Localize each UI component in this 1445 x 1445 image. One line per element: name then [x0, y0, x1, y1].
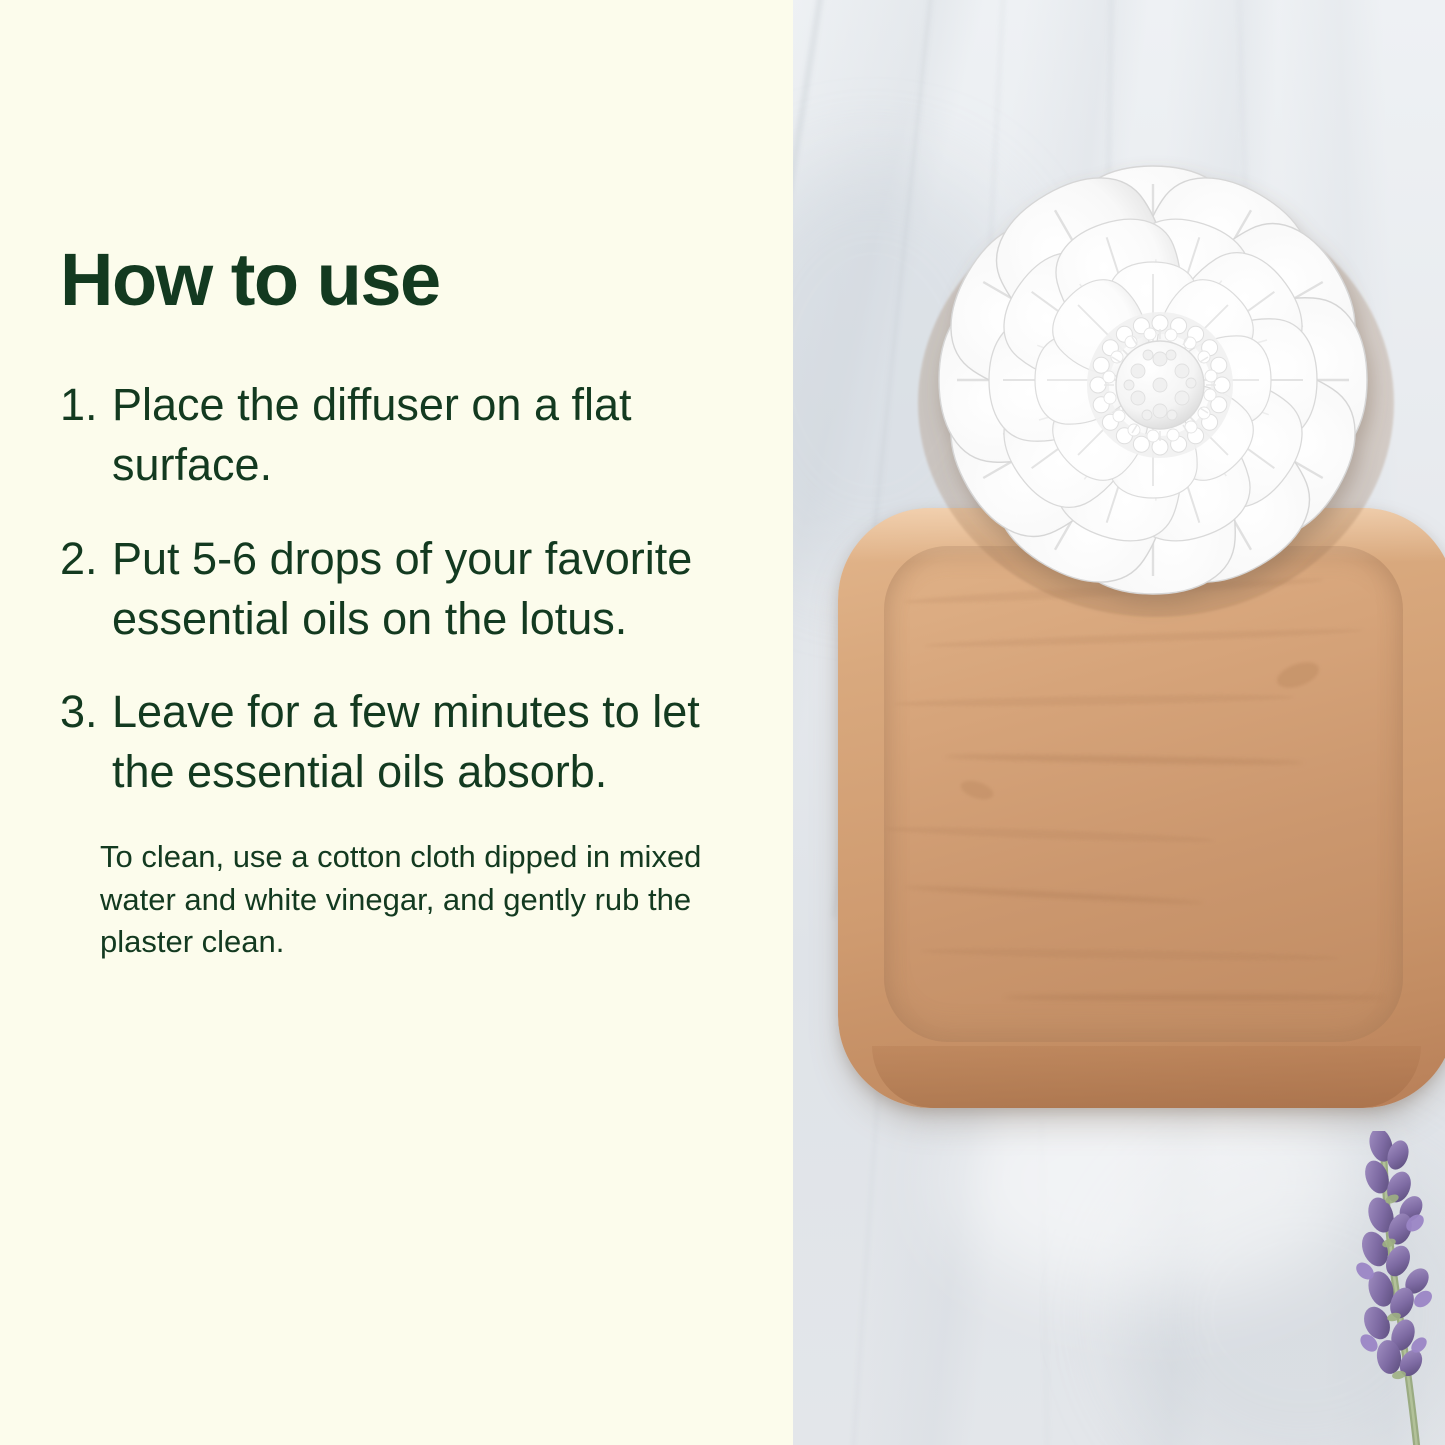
wood-knot-1 [1274, 657, 1323, 693]
instructions-panel: How to use 1. Place the diffuser on a fl… [0, 0, 793, 1445]
step-item-1: 1. Place the diffuser on a flat surface. [60, 375, 760, 495]
wood-grain-8 [1004, 994, 1384, 1001]
marble-vein-6 [849, 1080, 881, 1445]
bowl-base-shadow [872, 1046, 1421, 1108]
marble-vein-4 [1100, 0, 1114, 490]
step-text-3: Leave for a few minutes to let the essen… [112, 682, 720, 802]
product-instruction-card: How to use 1. Place the diffuser on a fl… [0, 0, 1445, 1445]
wood-grain-2 [924, 626, 1364, 649]
marble-vein-5 [1237, 0, 1257, 460]
lotus-seed-pod [1116, 341, 1204, 429]
step-text-1: Place the diffuser on a flat surface. [112, 375, 720, 495]
wood-grain-1 [904, 575, 1324, 607]
step-item-3: 3. Leave for a few minutes to let the es… [60, 682, 760, 802]
product-photo [793, 0, 1445, 1445]
lavender-sprig [1299, 1131, 1445, 1445]
wood-knot-2 [958, 777, 995, 803]
lotus-inner-petals [1035, 262, 1271, 498]
lavender-svg [1299, 1131, 1445, 1445]
wood-grain-5 [884, 824, 1214, 845]
wood-grain-4 [944, 753, 1304, 766]
wooden-bowl [838, 508, 1445, 1108]
lotus-stamen-ring [1090, 315, 1230, 455]
step-number-1: 1. [60, 375, 112, 435]
step-number-2: 2. [60, 529, 112, 589]
steps-list: 1. Place the diffuser on a flat surface.… [60, 375, 760, 802]
instructions-content: How to use 1. Place the diffuser on a fl… [60, 243, 760, 963]
step-item-2: 2. Put 5-6 drops of your favorite essent… [60, 529, 760, 649]
wood-grain-6 [904, 884, 1204, 906]
page-title: How to use [60, 243, 760, 317]
bowl-interior [884, 546, 1403, 1042]
bowl-rim-highlight [838, 508, 1445, 562]
step-text-2: Put 5-6 drops of your favorite essential… [112, 529, 720, 649]
step-number-3: 3. [60, 682, 112, 742]
cleaning-note: To clean, use a cotton cloth dipped in m… [100, 836, 740, 963]
wood-grain-3 [894, 693, 1294, 709]
wood-grain-7 [920, 946, 1340, 962]
